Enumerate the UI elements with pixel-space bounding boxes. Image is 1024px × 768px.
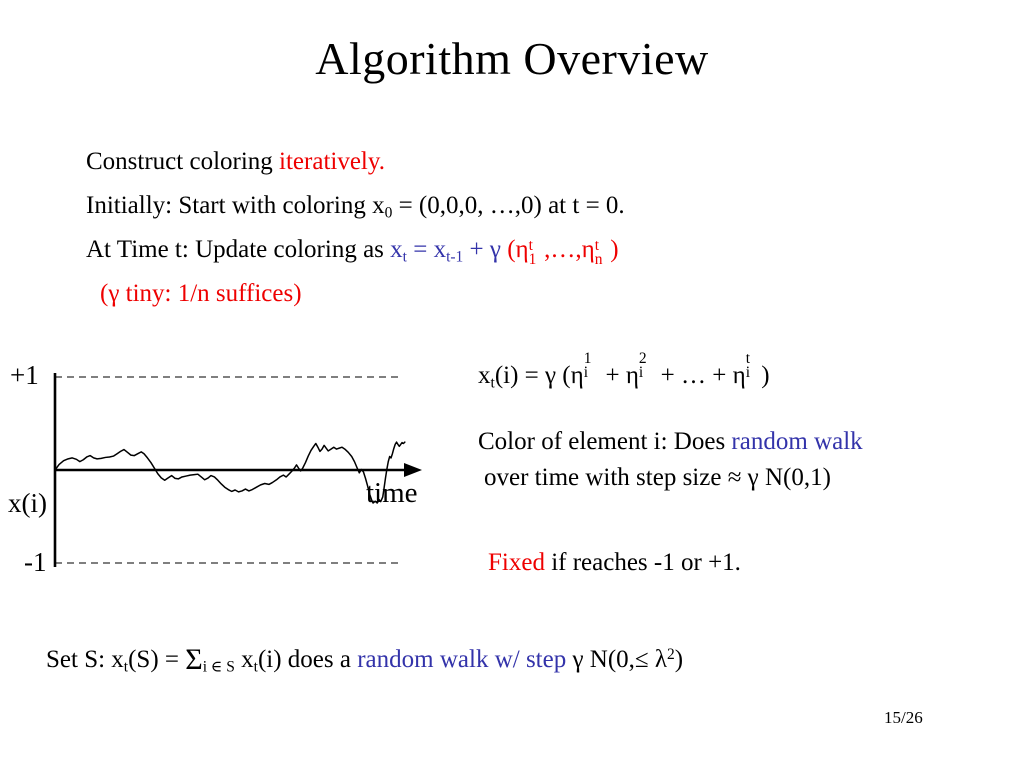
eta-n-subscript: n — [595, 238, 603, 282]
y-axis-label: x(i) — [8, 488, 47, 519]
set-tail-a: γ N(0, — [566, 646, 635, 673]
set-tail-b: λ — [649, 646, 667, 673]
color-note-prefix: Color of element i: Does — [478, 428, 731, 455]
set-mid-a: (S) = — [128, 646, 185, 673]
set-tail-exponent: 2 — [667, 646, 675, 663]
xt-lead: x — [478, 362, 491, 389]
eta-1-i-indices: 1i — [584, 358, 600, 383]
eta-2-i-subscript: i — [639, 364, 643, 382]
body-line-construct: Construct coloring iteratively. — [86, 140, 966, 184]
body-text-block: Construct coloring iteratively. Initiall… — [86, 140, 966, 316]
update-plus: + — [463, 236, 490, 263]
set-mid-c: (i) does a — [258, 646, 357, 673]
eta-1-indices: t1 — [529, 232, 545, 257]
random-walk-chart: +1 -1 x(i) time — [30, 355, 460, 585]
gamma-tiny-note: (γ tiny: 1/n suffices) — [100, 280, 302, 307]
xt-close: ) — [761, 362, 769, 389]
eta-1-subscript: 1 — [529, 238, 537, 282]
update-eq: = x — [407, 236, 446, 263]
page-number: 15/26 — [884, 708, 923, 728]
eta-n-indices: tn — [595, 232, 611, 257]
xt-plus-2: + … + η — [654, 362, 745, 389]
random-walk-step-keyword: random walk w/ step — [357, 646, 566, 673]
eta-open: (η — [501, 236, 529, 263]
update-x: x — [390, 236, 403, 263]
fixed-keyword: Fixed — [488, 549, 545, 576]
update-formula-red: (ηt1,…,ηtn) — [501, 236, 619, 263]
eta-mid: ,…,η — [544, 236, 595, 263]
construct-prefix: Construct coloring — [86, 148, 279, 175]
summation-index: i ∈ S — [203, 658, 235, 675]
update-prefix: At Time t: Update coloring as — [86, 236, 390, 263]
summation-sigma-icon: Σ — [185, 643, 202, 676]
formula-xt-of-i: xt(i) = γ (η1i + η2i + … + ηti) — [478, 358, 770, 390]
color-note-line2: over time with step size ≈ γ N(0,1) — [478, 460, 863, 496]
x-axis-label: time — [366, 477, 418, 510]
initially-text-b: = (0,0,0, …,0) at t = 0. — [392, 192, 624, 219]
iteratively-keyword: iteratively. — [279, 148, 385, 175]
color-of-element-note: Color of element i: Does random walk ove… — [478, 424, 863, 496]
set-s-line: Set S: xt(S) = Σi ∈ S xt(i) does a rando… — [46, 643, 683, 677]
x-axis-arrowhead — [404, 463, 422, 477]
random-walk-keyword: random walk — [731, 428, 862, 455]
update-formula-blue: xt = xt-1 + γ — [390, 236, 501, 263]
set-lead: Set S: x — [46, 646, 124, 673]
body-line-update: At Time t: Update coloring as xt = xt-1 … — [86, 228, 966, 272]
xt-plus-1: + η — [599, 362, 639, 389]
eta-t-i-subscript: i — [746, 364, 750, 382]
body-line-gamma-note: (γ tiny: 1/n suffices) — [86, 272, 966, 316]
page-title: Algorithm Overview — [0, 34, 1024, 85]
less-equal-icon: ≤ — [635, 646, 649, 673]
xt-open: (i) = γ (η — [495, 362, 584, 389]
eta-1-i-subscript: i — [584, 364, 588, 382]
random-walk-svg — [30, 355, 460, 585]
set-tail-c: ) — [675, 646, 683, 673]
eta-close: ) — [610, 236, 618, 263]
body-line-initially: Initially: Start with coloring x0 = (0,0… — [86, 184, 966, 228]
eta-2-i-indices: 2i — [639, 358, 655, 383]
y-tick-label-plus-one: +1 — [10, 360, 39, 391]
y-tick-label-minus-one: -1 — [24, 547, 47, 578]
eta-t-i-indices: ti — [746, 358, 762, 383]
color-note-line1: Color of element i: Does random walk — [478, 428, 863, 455]
initially-text-a: Initially: Start with coloring x — [86, 192, 385, 219]
fixed-note: Fixed if reaches -1 or +1. — [488, 549, 741, 577]
set-mid-b: x — [235, 646, 254, 673]
update-sub-tm1: t-1 — [446, 248, 463, 265]
update-gamma: γ — [490, 236, 501, 263]
random-walk-trace — [55, 442, 405, 503]
presentation-slide: Algorithm Overview Construct coloring it… — [0, 0, 1024, 768]
fixed-rest: if reaches -1 or +1. — [545, 549, 741, 576]
